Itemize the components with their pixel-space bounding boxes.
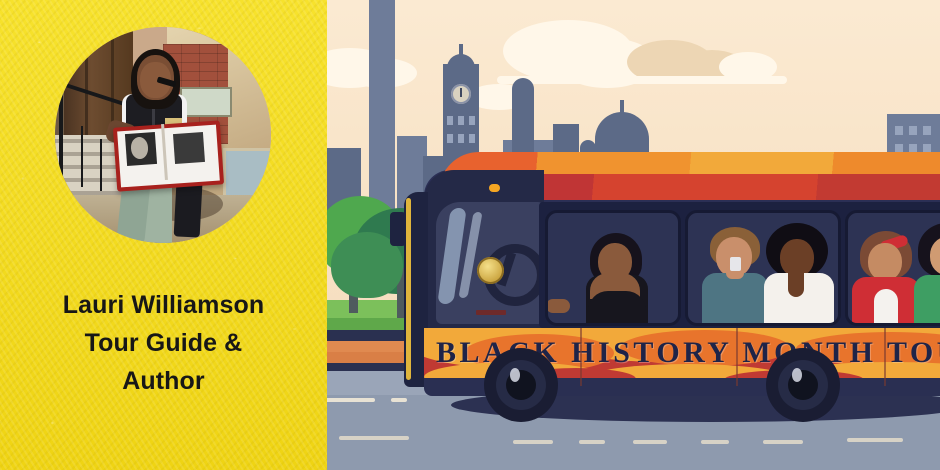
wheel-glint <box>792 368 802 382</box>
marker-light-icon <box>489 184 500 192</box>
left-yellow-panel: Lauri Williamson Tour Guide & Author <box>0 0 327 470</box>
capitol-finial <box>620 100 624 114</box>
bus-panel-seam <box>736 328 738 386</box>
tour-guide-portrait <box>55 27 271 243</box>
passenger-3 <box>758 223 838 323</box>
passenger-head <box>868 243 902 281</box>
passenger-dress <box>588 291 646 323</box>
cloud-base <box>497 76 787 84</box>
bus-window <box>685 210 841 326</box>
wheel-glint <box>510 368 520 382</box>
portrait-rail-post <box>81 126 83 186</box>
lane-dash <box>763 440 803 444</box>
clock-hand <box>460 88 462 97</box>
presenter-caption: Lauri Williamson Tour Guide & Author <box>0 286 327 400</box>
bus-panel-seam <box>580 328 582 386</box>
bus-door-trim <box>406 198 411 380</box>
tower-window <box>447 116 453 125</box>
tower-window <box>447 134 453 143</box>
passenger-hand <box>546 299 570 313</box>
lane-dash <box>847 438 903 442</box>
passenger-shirt <box>874 289 898 323</box>
tower-window <box>458 116 464 125</box>
presenter-role-line-2: Author <box>0 362 327 400</box>
lane-dash <box>579 440 605 444</box>
lane-dash <box>513 440 553 444</box>
portrait-rail-post <box>61 113 63 178</box>
clock-tower-finial <box>459 44 463 58</box>
passenger-top <box>914 275 940 323</box>
tower-window <box>458 134 464 143</box>
lane-dash <box>633 440 667 444</box>
office-window <box>923 126 931 135</box>
lane-dash <box>339 436 409 440</box>
book-photo-right <box>173 132 205 164</box>
passenger-collar <box>788 273 804 297</box>
bus-panel-seam <box>884 328 886 386</box>
tour-bus: BLACK HISTORY MONTH TOUR <box>384 152 940 407</box>
tower-window <box>469 116 475 125</box>
passenger-1 <box>574 231 658 323</box>
office-window <box>909 126 917 135</box>
portrait-rail-post <box>100 139 102 191</box>
passenger-5 <box>910 223 940 323</box>
event-banner: Lauri Williamson Tour Guide & Author <box>0 0 940 470</box>
license-plate <box>476 310 506 315</box>
bus-window <box>845 210 940 326</box>
bus-window-band <box>539 202 940 328</box>
phone-icon <box>730 257 741 271</box>
presenter-role-line-1: Tour Guide & <box>0 324 327 362</box>
obelisk-tip <box>375 0 389 10</box>
presenter-name: Lauri Williamson <box>0 286 327 324</box>
portrait-wall-sign <box>180 87 232 117</box>
office-window <box>895 126 903 135</box>
tower-window <box>469 134 475 143</box>
passenger-head <box>780 239 814 277</box>
bus-illustration: BLACK HISTORY MONTH TOUR <box>327 0 940 470</box>
lane-dash <box>701 440 729 444</box>
bus-gold-emblem <box>477 257 504 284</box>
lane-dash <box>327 398 375 402</box>
bus-window <box>545 210 681 326</box>
